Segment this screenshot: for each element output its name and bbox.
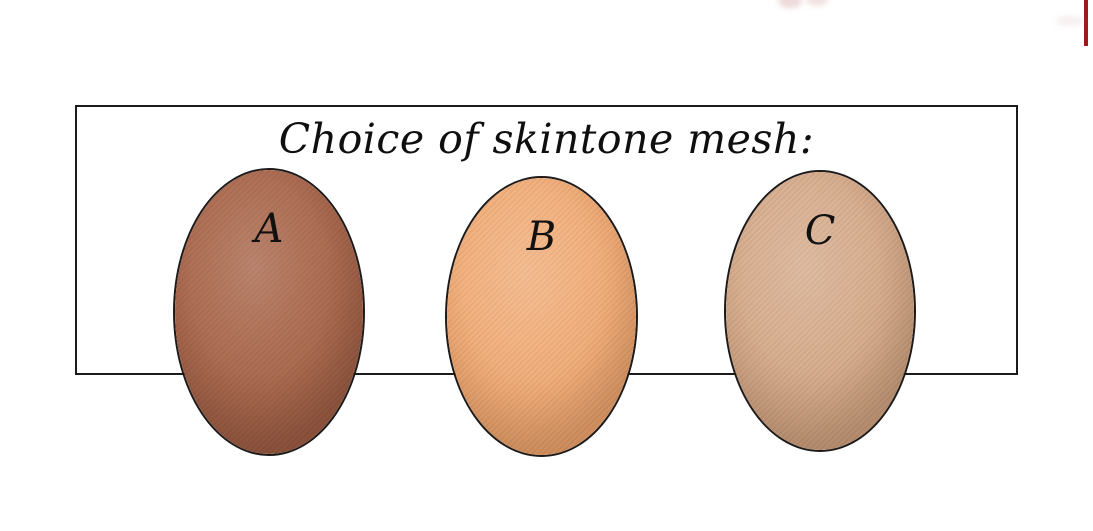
swatch-layer: A B C [0,0,1093,531]
swatch-b-shading [447,178,636,455]
skintone-swatch-c[interactable]: C [724,170,916,452]
swatch-a-shading [175,170,363,454]
skintone-swatch-b[interactable]: B [445,176,638,457]
page-root: Choice of skintone mesh: A B C [0,0,1093,531]
skintone-swatch-a[interactable]: A [173,168,365,456]
swatch-c-shading [726,172,914,450]
